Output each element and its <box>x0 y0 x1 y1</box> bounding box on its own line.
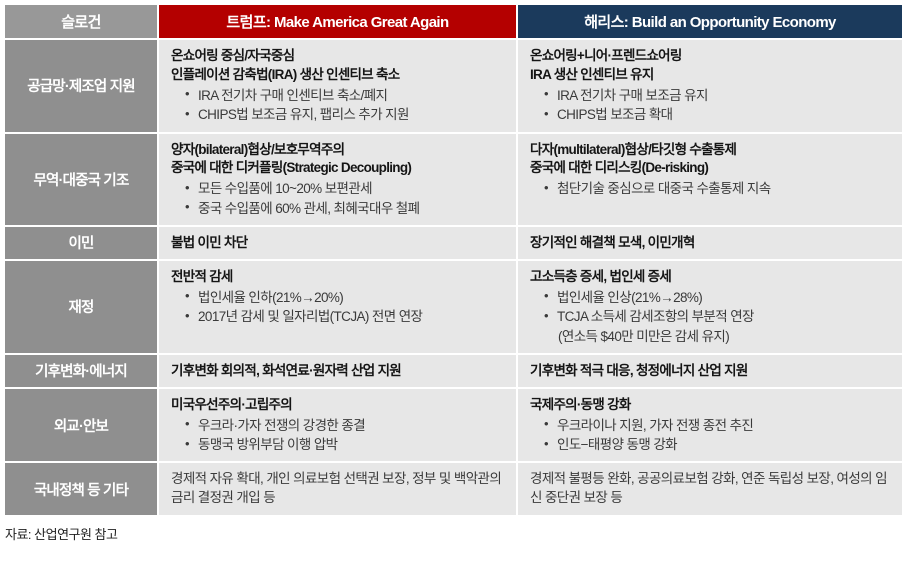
bullet-text: IRA 전기차 구매 인센티브 축소/폐지 <box>198 88 387 103</box>
cell-lead-text: 온쇼어링+니어·프렌드쇼어링 <box>530 47 892 65</box>
bullet-item: 우크라·가자 전쟁의 강경한 종결 <box>185 416 506 435</box>
bullet-item: TCJA 소득세 감세조항의 부분적 연장(연소득 $40만 미만은 감세 유지… <box>544 307 892 346</box>
bullet-text: IRA 전기차 구매 보조금 유지 <box>557 88 708 103</box>
cell-trump: 불법 이민 차단 <box>159 227 516 259</box>
bullet-item: 2017년 감세 및 일자리법(TCJA) 전면 연장 <box>185 307 506 326</box>
table-header: 슬로건 트럼프: Make America Great Again 해리스: B… <box>5 5 902 38</box>
bullet-item: 모든 수입품에 10~20% 보편관세 <box>185 179 506 198</box>
bullet-text: 법인세율 인상(21%→28%) <box>557 290 702 305</box>
cell-bullet-list: 모든 수입품에 10~20% 보편관세중국 수입품에 60% 관세, 최혜국대우… <box>171 179 506 218</box>
header-harris-slogan: Build an Opportunity Economy <box>632 14 836 31</box>
cell-trump: 양자(bilateral)협상/보호무역주의중국에 대한 디커플링(Strate… <box>159 134 516 226</box>
bullet-item: 인도−태평양 동맹 강화 <box>544 435 892 454</box>
cell-bullet-list: IRA 전기차 구매 보조금 유지CHIPS법 보조금 확대 <box>530 86 892 125</box>
cell-paragraph: 경제적 자유 확대, 개인 의료보험 선택권 보장, 정부 및 백악관의 금리 … <box>171 470 506 508</box>
bullet-item: 법인세율 인하(21%→20%) <box>185 288 506 307</box>
cell-lead-text: 국제주의·동맹 강화 <box>530 396 892 414</box>
bullet-item: IRA 전기차 구매 보조금 유지 <box>544 86 892 105</box>
cell-lead-text: 고소득층 증세, 법인세 증세 <box>530 268 892 286</box>
table-row: 국내정책 등 기타경제적 자유 확대, 개인 의료보험 선택권 보장, 정부 및… <box>5 463 902 515</box>
cell-lead-text: 기후변화 회의적, 화석연료·원자력 산업 지원 <box>171 362 506 380</box>
cell-lead-text: 온쇼어링 중심/자국중심 <box>171 47 506 65</box>
bullet-item: IRA 전기차 구매 인센티브 축소/폐지 <box>185 86 506 105</box>
bullet-item: 첨단기술 중심으로 대중국 수출통제 지속 <box>544 179 892 198</box>
cell-harris: 온쇼어링+니어·프렌드쇼어링IRA 생산 인센티브 유지IRA 전기차 구매 보… <box>518 40 902 132</box>
bullet-text: 첨단기술 중심으로 대중국 수출통제 지속 <box>557 181 771 196</box>
cell-harris: 경제적 불평등 완화, 공공의료보험 강화, 연준 독립성 보장, 여성의 임신… <box>518 463 902 515</box>
bullet-item: 법인세율 인상(21%→28%) <box>544 288 892 307</box>
bullet-item: CHIPS법 보조금 확대 <box>544 105 892 124</box>
bullet-text: 법인세율 인하(21%→20%) <box>198 290 343 305</box>
source-note: 자료: 산업연구원 참고 <box>5 524 902 543</box>
cell-trump: 기후변화 회의적, 화석연료·원자력 산업 지원 <box>159 355 516 387</box>
bullet-text: TCJA 소득세 감세조항의 부분적 연장 <box>557 309 754 324</box>
cell-lead-text: 양자(bilateral)협상/보호무역주의 <box>171 141 506 159</box>
table-row: 외교·안보미국우선주의·고립주의우크라·가자 전쟁의 강경한 종결동맹국 방위부… <box>5 389 902 462</box>
header-harris: 해리스: Build an Opportunity Economy <box>518 5 902 38</box>
row-label-cell: 기후변화·에너지 <box>5 355 157 387</box>
cell-lead-text: IRA 생산 인센티브 유지 <box>530 66 892 84</box>
header-trump-slogan: Make America Great Again <box>274 14 449 31</box>
cell-harris: 고소득층 증세, 법인세 증세법인세율 인상(21%→28%)TCJA 소득세 … <box>518 261 902 353</box>
policy-comparison-table-wrapper: 슬로건 트럼프: Make America Great Again 해리스: B… <box>0 0 905 543</box>
cell-lead-text: 기후변화 적극 대응, 청정에너지 산업 지원 <box>530 362 892 380</box>
bullet-item: 우크라이나 지원, 가자 전쟁 종전 추진 <box>544 416 892 435</box>
table-row: 기후변화·에너지기후변화 회의적, 화석연료·원자력 산업 지원기후변화 적극 … <box>5 355 902 387</box>
cell-bullet-list: 법인세율 인상(21%→28%)TCJA 소득세 감세조항의 부분적 연장(연소… <box>530 288 892 346</box>
cell-trump: 경제적 자유 확대, 개인 의료보험 선택권 보장, 정부 및 백악관의 금리 … <box>159 463 516 515</box>
bullet-text: 동맹국 방위부담 이행 압박 <box>198 437 337 452</box>
row-label-cell: 공급망·제조업 지원 <box>5 40 157 132</box>
table-row: 공급망·제조업 지원온쇼어링 중심/자국중심인플레이션 감축법(IRA) 생산 … <box>5 40 902 132</box>
bullet-text: 우크라이나 지원, 가자 전쟁 종전 추진 <box>557 418 753 433</box>
row-label-cell: 무역·대중국 기조 <box>5 134 157 226</box>
cell-lead-text: 중국에 대한 디커플링(Strategic Decoupling) <box>171 159 506 177</box>
table-body: 공급망·제조업 지원온쇼어링 중심/자국중심인플레이션 감축법(IRA) 생산 … <box>5 40 902 515</box>
header-slogan-label: 슬로건 <box>5 5 157 38</box>
cell-bullet-list: 우크라·가자 전쟁의 강경한 종결동맹국 방위부담 이행 압박 <box>171 416 506 455</box>
header-trump-separator: : <box>266 14 274 31</box>
bullet-item: 동맹국 방위부담 이행 압박 <box>185 435 506 454</box>
cell-lead-text: 미국우선주의·고립주의 <box>171 396 506 414</box>
cell-lead-text: 중국에 대한 디리스킹(De-risking) <box>530 159 892 177</box>
cell-harris: 기후변화 적극 대응, 청정에너지 산업 지원 <box>518 355 902 387</box>
bullet-item: 중국 수입품에 60% 관세, 최혜국대우 철폐 <box>185 199 506 218</box>
row-label-cell: 국내정책 등 기타 <box>5 463 157 515</box>
cell-harris: 다자(multilateral)협상/타깃형 수출통제중국에 대한 디리스킹(D… <box>518 134 902 226</box>
table-row: 이민불법 이민 차단장기적인 해결책 모색, 이민개혁 <box>5 227 902 259</box>
table-row: 재정전반적 감세법인세율 인하(21%→20%)2017년 감세 및 일자리법(… <box>5 261 902 353</box>
cell-trump: 온쇼어링 중심/자국중심인플레이션 감축법(IRA) 생산 인센티브 축소IRA… <box>159 40 516 132</box>
bullet-text: 모든 수입품에 10~20% 보편관세 <box>198 181 372 196</box>
header-trump-name: 트럼프 <box>226 14 266 31</box>
cell-bullet-list: 법인세율 인하(21%→20%)2017년 감세 및 일자리법(TCJA) 전면… <box>171 288 506 327</box>
cell-lead-text: 불법 이민 차단 <box>171 234 506 252</box>
cell-bullet-list: IRA 전기차 구매 인센티브 축소/폐지CHIPS법 보조금 유지, 팹리스 … <box>171 86 506 125</box>
cell-harris: 장기적인 해결책 모색, 이민개혁 <box>518 227 902 259</box>
bullet-text: 중국 수입품에 60% 관세, 최혜국대우 철폐 <box>198 201 419 216</box>
header-trump: 트럼프: Make America Great Again <box>159 5 516 38</box>
cell-lead-text: 인플레이션 감축법(IRA) 생산 인센티브 축소 <box>171 66 506 84</box>
cell-trump: 전반적 감세법인세율 인하(21%→20%)2017년 감세 및 일자리법(TC… <box>159 261 516 353</box>
row-label-cell: 재정 <box>5 261 157 353</box>
header-harris-separator: : <box>624 14 632 31</box>
cell-lead-text: 전반적 감세 <box>171 268 506 286</box>
bullet-subtext: (연소득 $40만 미만은 감세 유지) <box>557 327 892 346</box>
cell-lead-text: 다자(multilateral)협상/타깃형 수출통제 <box>530 141 892 159</box>
header-row: 슬로건 트럼프: Make America Great Again 해리스: B… <box>5 5 902 38</box>
cell-lead-text: 장기적인 해결책 모색, 이민개혁 <box>530 234 892 252</box>
bullet-text: CHIPS법 보조금 확대 <box>557 107 672 122</box>
table-row: 무역·대중국 기조양자(bilateral)협상/보호무역주의중국에 대한 디커… <box>5 134 902 226</box>
cell-trump: 미국우선주의·고립주의우크라·가자 전쟁의 강경한 종결동맹국 방위부담 이행 … <box>159 389 516 462</box>
cell-bullet-list: 우크라이나 지원, 가자 전쟁 종전 추진인도−태평양 동맹 강화 <box>530 416 892 455</box>
cell-bullet-list: 첨단기술 중심으로 대중국 수출통제 지속 <box>530 179 892 198</box>
bullet-text: 2017년 감세 및 일자리법(TCJA) 전면 연장 <box>198 309 422 324</box>
row-label-cell: 외교·안보 <box>5 389 157 462</box>
cell-paragraph: 경제적 불평등 완화, 공공의료보험 강화, 연준 독립성 보장, 여성의 임신… <box>530 470 892 508</box>
policy-comparison-table: 슬로건 트럼프: Make America Great Again 해리스: B… <box>3 3 904 517</box>
header-harris-name: 해리스 <box>584 14 624 31</box>
cell-harris: 국제주의·동맹 강화우크라이나 지원, 가자 전쟁 종전 추진인도−태평양 동맹… <box>518 389 902 462</box>
bullet-text: 우크라·가자 전쟁의 강경한 종결 <box>198 418 365 433</box>
bullet-item: CHIPS법 보조금 유지, 팹리스 추가 지원 <box>185 105 506 124</box>
bullet-text: CHIPS법 보조금 유지, 팹리스 추가 지원 <box>198 107 409 122</box>
bullet-text: 인도−태평양 동맹 강화 <box>557 437 677 452</box>
row-label-cell: 이민 <box>5 227 157 259</box>
